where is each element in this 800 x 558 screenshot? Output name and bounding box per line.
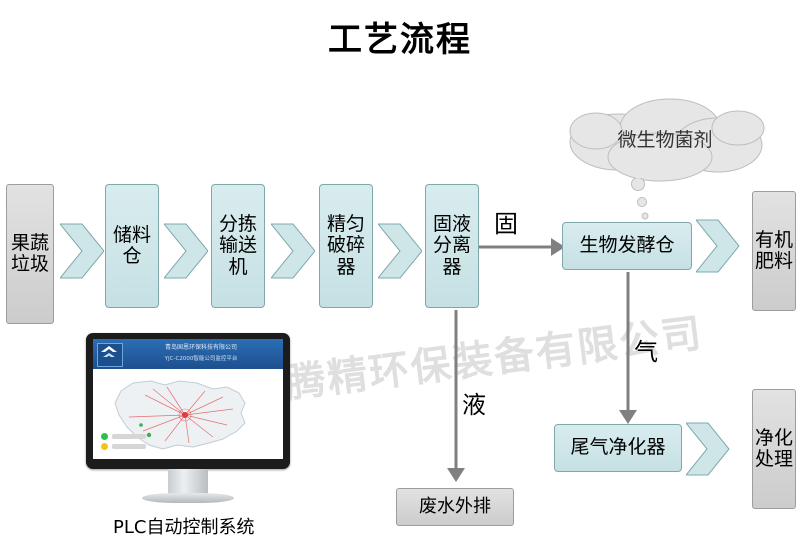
label-gas: 气 [634,332,658,367]
plc-caption: PLC自动控制系统 [113,513,254,539]
plc-monitor: 青岛国恩环保科技有限公司 YJC-C2000智能公司监控平台 [86,333,290,511]
flow-box-storage-label: 储料仓 [108,225,156,268]
flow-box-tail-gas-purifier-label: 尾气净化器 [557,437,679,458]
label-liquid: 液 [462,385,486,420]
label-solid: 固 [494,204,518,239]
microbial-agent-cloud: 微生物菌剂 [560,95,770,185]
monitor-header: 青岛国恩环保科技有限公司 YJC-C2000智能公司监控平台 [93,339,283,369]
flow-box-sorting-conveyor: 分拣输送机 [211,184,265,308]
page-title: 工艺流程 [0,12,800,61]
flow-box-wastewater-discharge-label: 废水外排 [419,497,491,517]
flow-box-purification-treatment: 净化处理 [752,389,796,509]
flow-box-fine-crusher-label: 精匀破碎器 [322,214,370,278]
monitor-system-name: YJC-C2000智能公司监控平台 [125,354,277,362]
cloud-bubbles [620,178,656,230]
monitor-stand-base [142,493,234,503]
status-led-row [101,443,146,450]
status-led-row [101,433,146,440]
monitor-frame: 青岛国恩环保科技有限公司 YJC-C2000智能公司监控平台 [86,333,290,469]
flow-box-storage: 储料仓 [105,184,159,308]
monitor-status-leds [101,433,146,453]
monitor-screen: 青岛国恩环保科技有限公司 YJC-C2000智能公司监控平台 [93,339,283,459]
flow-box-tail-gas-purifier: 尾气净化器 [554,424,682,472]
status-bar [112,434,146,439]
flow-box-bio-fermentation-tank-label: 生物发酵仓 [565,235,689,256]
flow-box-organic-fertilizer-label: 有机肥料 [755,230,793,273]
monitor-body [93,369,283,459]
status-bar [112,444,146,449]
status-led-yellow-icon [101,443,108,450]
company-logo-icon [97,343,123,367]
flow-box-purification-treatment-label: 净化处理 [755,428,793,471]
diagram-canvas: 工艺流程 青岛腾精环保装备有限公司 果蔬垃圾 储料仓 分拣输送机 精匀破碎器 [0,0,800,558]
flow-box-fine-crusher: 精匀破碎器 [319,184,373,308]
arrow-solid-to-fermentation [479,235,565,263]
flow-box-solid-liquid-separator: 固液分离器 [425,184,479,308]
flow-box-wastewater-discharge: 废水外排 [396,488,514,526]
monitor-stand-neck [168,469,208,495]
flow-box-organic-fertilizer: 有机肥料 [752,191,796,311]
flow-box-start: 果蔬垃圾 [6,184,54,324]
flow-box-sorting-conveyor-label: 分拣输送机 [214,214,262,278]
flow-box-start-label: 果蔬垃圾 [9,233,51,276]
flow-box-solid-liquid-separator-label: 固液分离器 [428,214,476,278]
microbial-agent-label: 微生物菌剂 [560,125,770,152]
status-led-green-icon [101,433,108,440]
monitor-company-name: 青岛国恩环保科技有限公司 [125,342,277,351]
